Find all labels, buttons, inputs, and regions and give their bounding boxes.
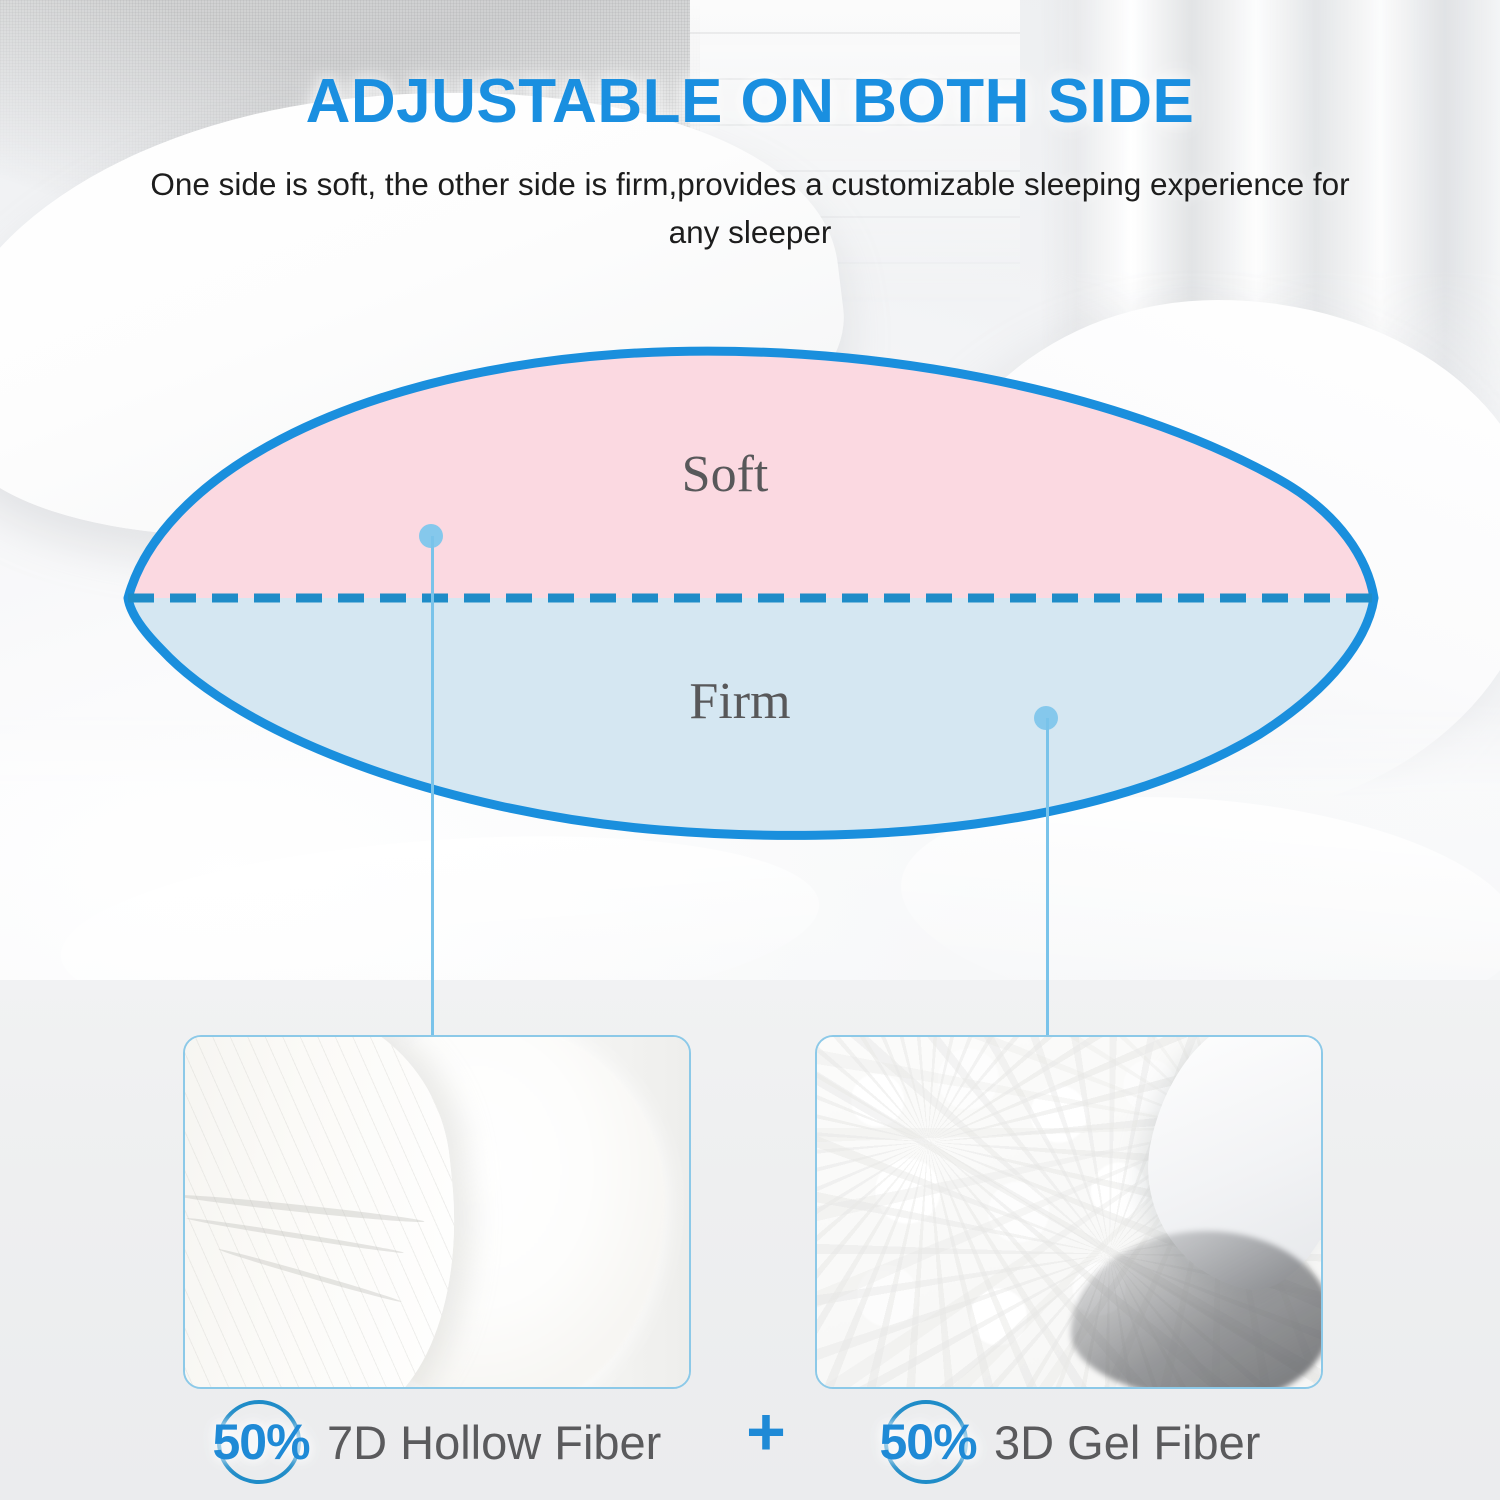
stat-label-left: 7D Hollow Fiber [327,1415,661,1470]
photo-gel-fiber [817,1037,1321,1387]
percent-badge-left: 50% [205,1396,317,1488]
photo-panel-gel-fiber [815,1035,1323,1389]
photo-panel-hollow-fiber [183,1035,691,1389]
stat-gel-fiber: 50% 3D Gel Fiber [872,1396,1260,1488]
callout-line-firm [1046,718,1049,1036]
firm-label: Firm [590,672,890,731]
percent-value-right: 50% [879,1413,976,1471]
stat-hollow-fiber: 50% 7D Hollow Fiber [205,1396,661,1488]
percent-value-left: 50% [212,1413,309,1471]
page-subtitle: One side is soft, the other side is firm… [140,160,1360,256]
percent-badge-right: 50% [872,1396,984,1488]
plus-icon: + [736,1402,796,1462]
infographic-page: ADJUSTABLE ON BOTH SIDE One side is soft… [0,0,1500,1500]
photo-hollow-fiber [185,1037,689,1387]
pillow-diagram [100,330,1410,850]
page-title: ADJUSTABLE ON BOTH SIDE [0,66,1500,137]
stat-label-right: 3D Gel Fiber [994,1415,1260,1470]
callout-line-soft [431,536,434,1036]
soft-label: Soft [575,445,875,504]
